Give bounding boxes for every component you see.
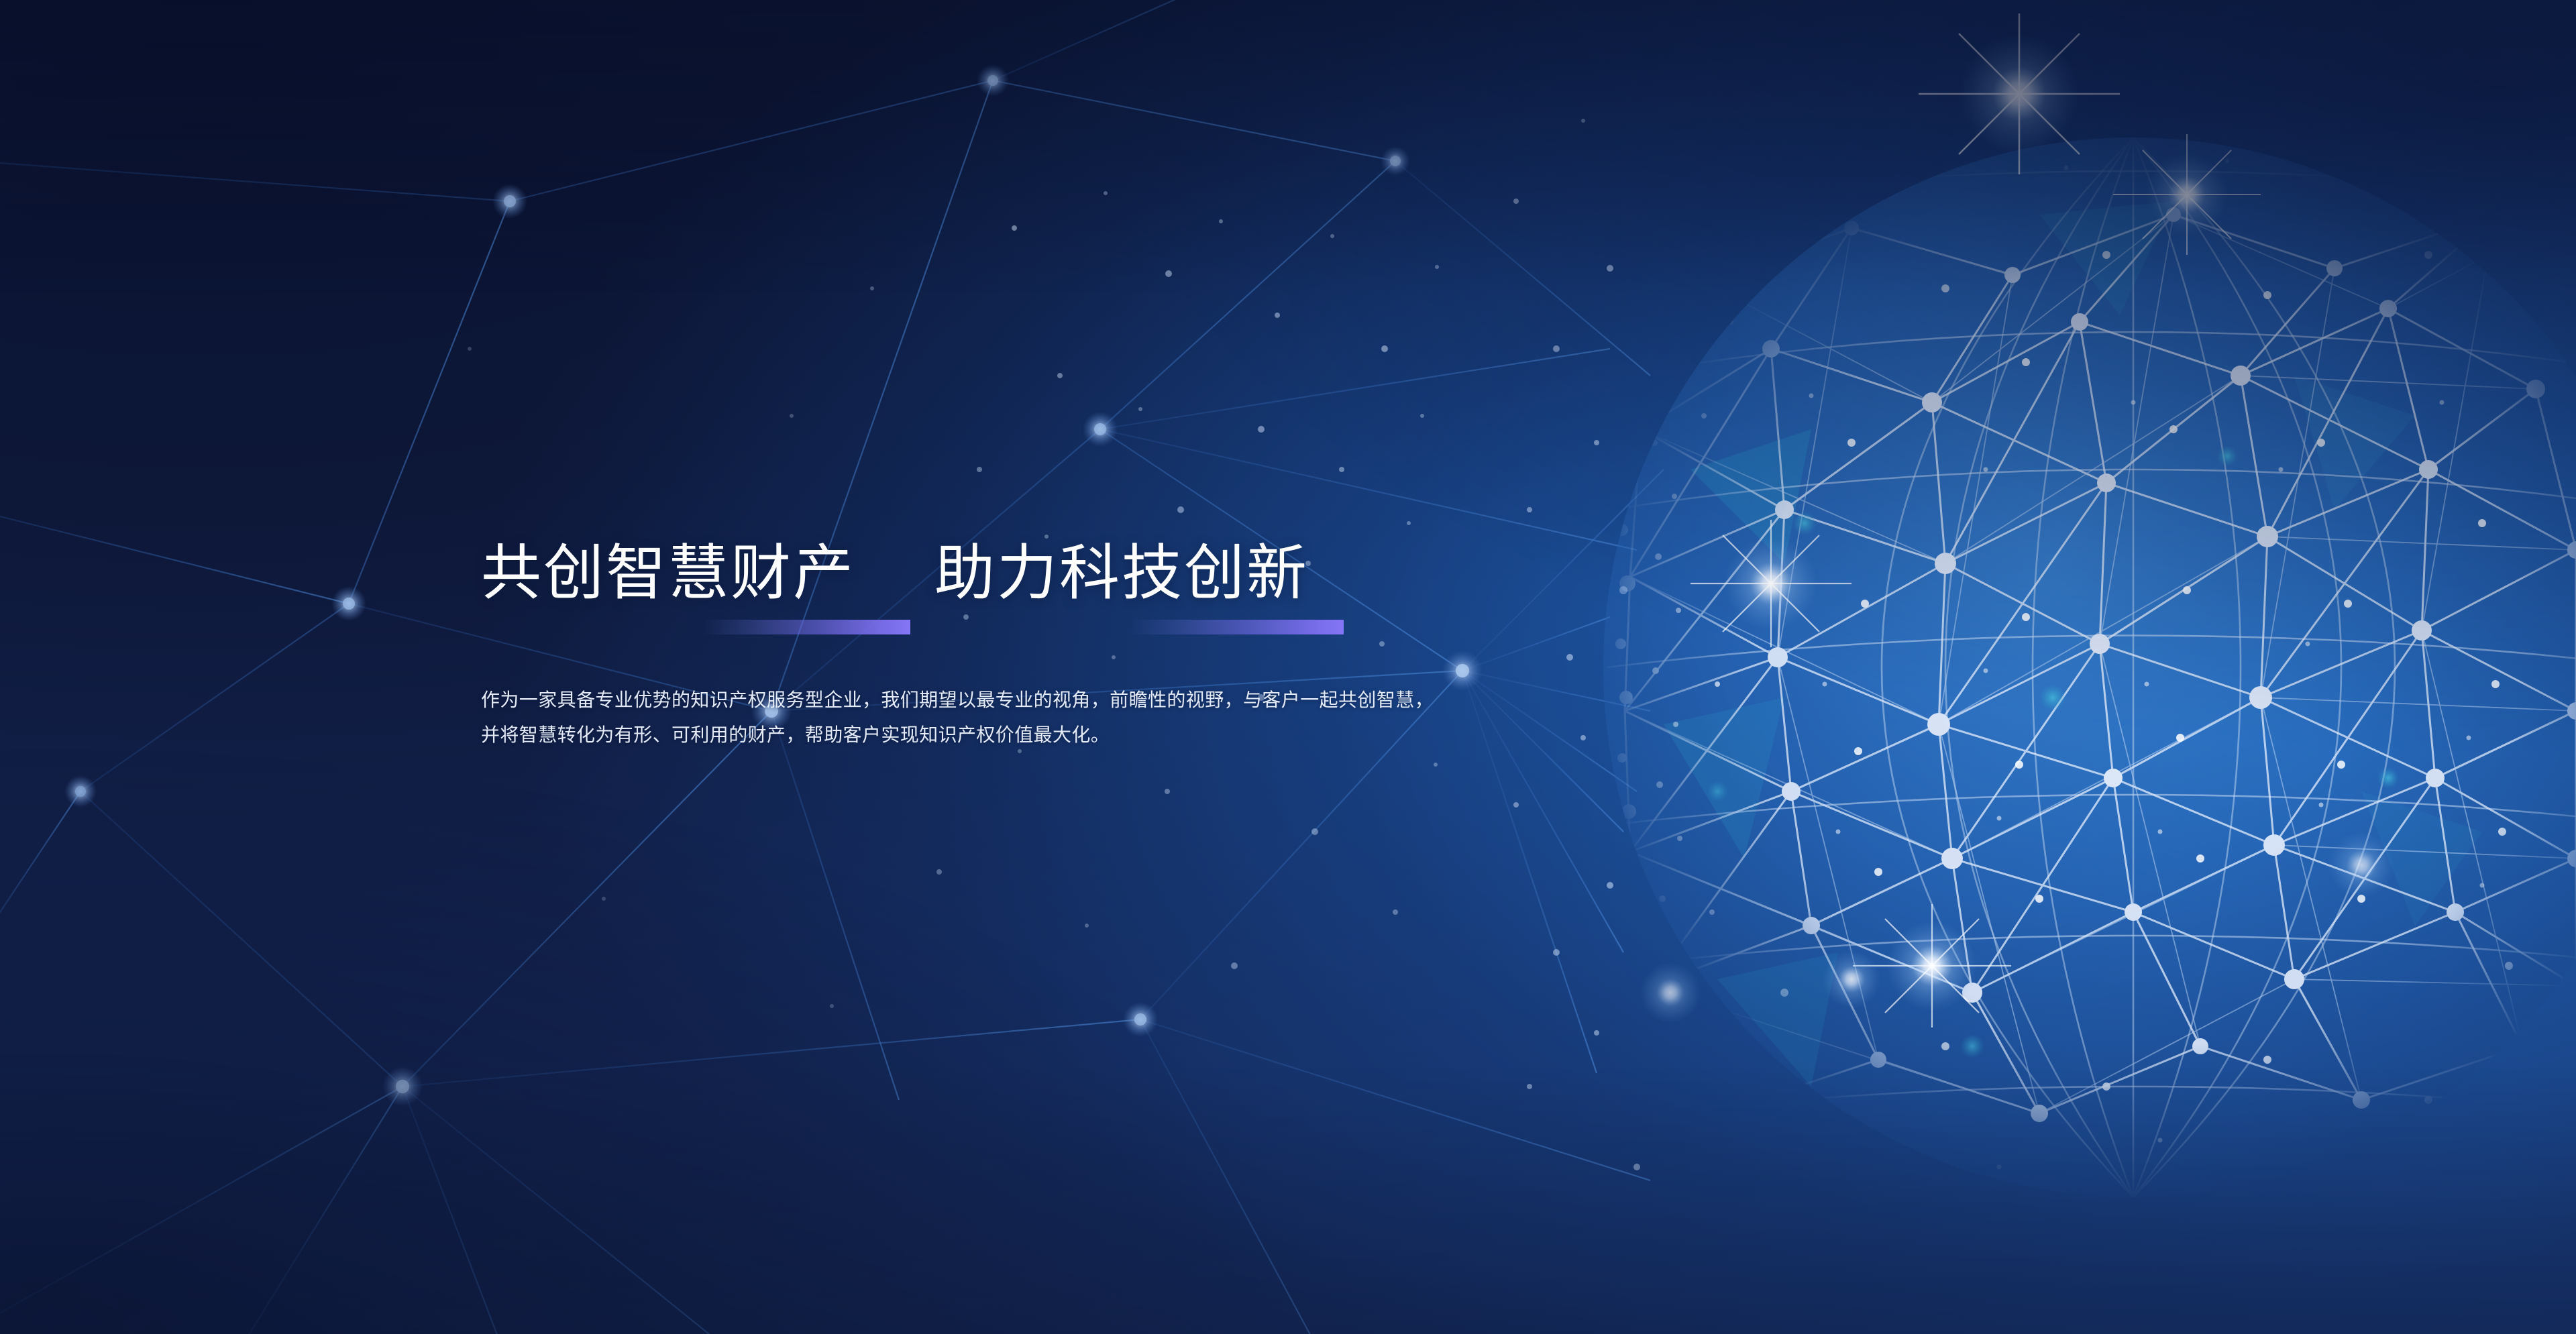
hero-banner: 共创智慧财产 助力科技创新 作为一家具备专业优势的知识产权服务型企业，我们期望以… [0, 0, 2576, 1334]
banner-description-text: 作为一家具备专业优势的知识产权服务型企业，我们期望以最专业的视角，前瞻性的视野，… [481, 683, 1434, 753]
headline-segment-2: 助力科技创新 [934, 543, 1309, 604]
banner-copy: 共创智慧财产 助力科技创新 作为一家具备专业优势的知识产权服务型企业，我们期望以… [481, 543, 1487, 753]
headline-accent-bar-2 [1129, 620, 1344, 634]
page-title: 共创智慧财产 助力科技创新 [481, 543, 1487, 604]
headline-segment-1-text: 共创智慧财产 [481, 543, 855, 604]
banner-description: 作为一家具备专业优势的知识产权服务型企业，我们期望以最专业的视角，前瞻性的视野，… [481, 683, 1434, 753]
headline-segment-2-text: 助力科技创新 [934, 543, 1309, 604]
headline-accent-bar-1 [702, 620, 910, 634]
headline-segment-1: 共创智慧财产 [481, 543, 855, 604]
